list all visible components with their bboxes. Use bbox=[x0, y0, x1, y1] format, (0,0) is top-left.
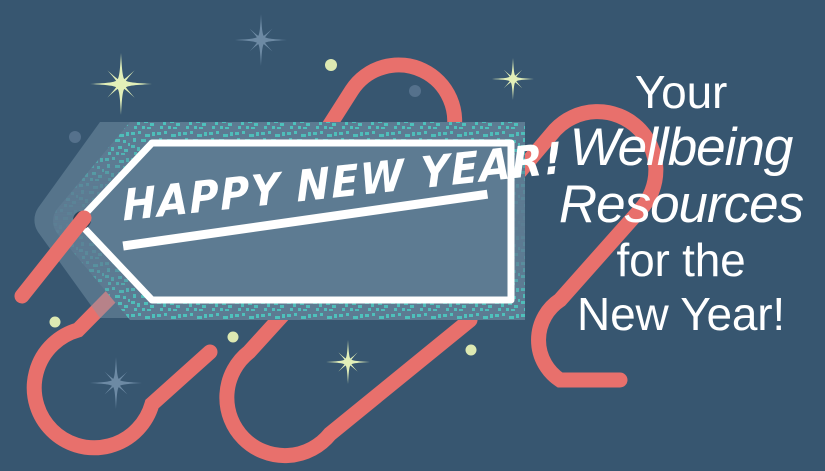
headline-line-1: Your bbox=[555, 66, 807, 120]
dot-upper-right bbox=[409, 85, 421, 97]
tag-inner-border bbox=[83, 143, 511, 300]
dot-lower-left bbox=[50, 317, 61, 328]
dot-lower-mid bbox=[228, 332, 239, 343]
new-year-wellbeing-banner: HAPPY NEW YEAR! Your Wellbeing Resources… bbox=[0, 0, 825, 471]
dot-lower-right bbox=[466, 345, 477, 356]
dot-top-center bbox=[325, 59, 337, 71]
headline-line-5: New Year! bbox=[555, 288, 807, 342]
headline-line-2: Wellbeing bbox=[555, 120, 807, 177]
headline-line-3: Resources bbox=[555, 177, 807, 234]
dot-upper-left bbox=[69, 131, 81, 143]
price-tag bbox=[53, 122, 525, 320]
headline-line-4: for the bbox=[555, 234, 807, 288]
headline-block: Your Wellbeing Resources for the New Yea… bbox=[555, 66, 807, 342]
